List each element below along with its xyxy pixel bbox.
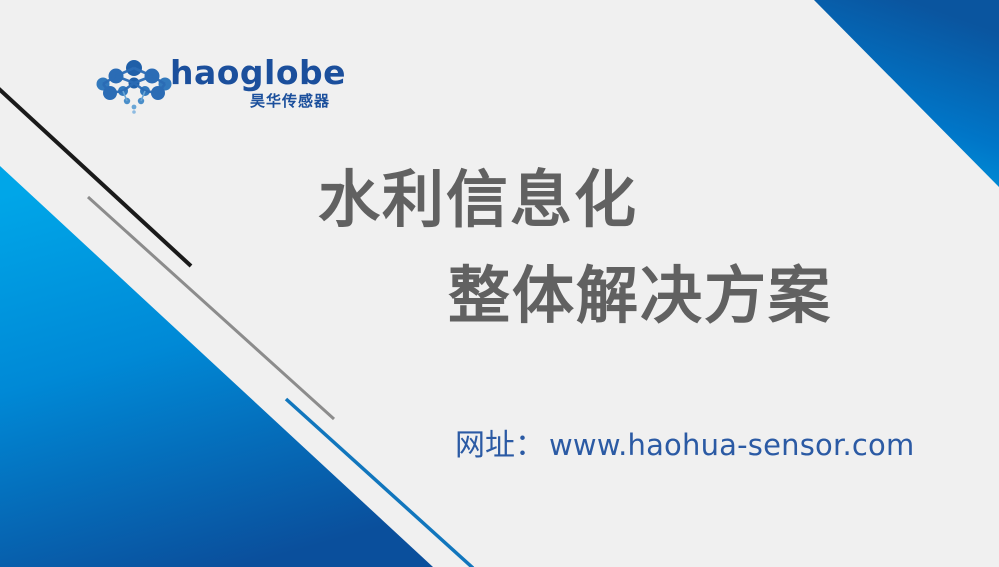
page-title-line-1: 水利信息化	[318, 166, 638, 234]
logo-wordmark: haoglobe	[170, 56, 346, 89]
website-label: 网址：	[455, 420, 545, 464]
page-title-line-2: 整体解决方案	[448, 262, 832, 330]
slide-canvas: haoglobe 昊华传感器 水利信息化 整体解决方案 网址： www.haoh…	[0, 0, 999, 567]
logo-text: haoglobe 昊华传感器	[170, 58, 330, 118]
company-logo[interactable]: haoglobe 昊华传感器	[96, 58, 326, 120]
website-url[interactable]: www.haohua-sensor.com	[549, 428, 914, 462]
logo-subtitle: 昊华传感器	[250, 94, 330, 109]
molecular-network-icon	[96, 60, 172, 116]
website-row: 网址： www.haohua-sensor.com	[455, 420, 914, 464]
